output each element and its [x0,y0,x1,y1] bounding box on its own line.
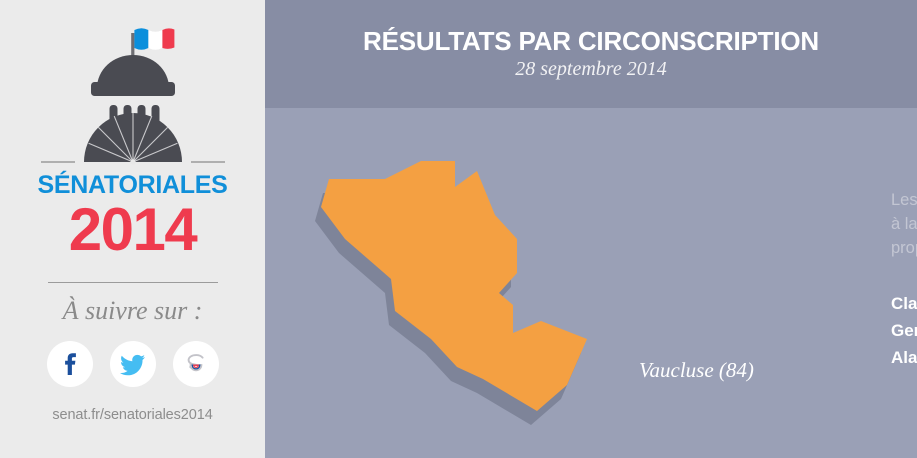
social-links [0,341,265,387]
french-flag-icon [134,28,174,50]
brand-block: SÉNATORIALES 2014 [0,173,265,261]
facebook-button[interactable] [47,341,93,387]
vaucluse-map[interactable] [285,143,645,433]
list-item: Claude HAUT [891,290,917,317]
senate-dome-logo [33,16,233,166]
map-container: Vaucluse (84) [265,108,917,458]
senators-list: Claude HAUT Geneviève JEAN Alain MILON [891,290,917,371]
brand-year: 2014 [0,198,265,261]
senat-icon [181,349,211,379]
map-label: Vaucluse (84) [639,358,754,383]
page-title: RÉSULTATS PAR CIRCONSCRIPTION [265,26,917,57]
sidebar: SÉNATORIALES 2014 À suivre sur : [0,0,265,458]
senat-button[interactable] [173,341,219,387]
twitter-button[interactable] [110,341,156,387]
hemicycle-icon [84,113,182,165]
content-area: RÉSULTATS PAR CIRCONSCRIPTION 28 septemb… [265,0,917,458]
list-item: Alain MILON [891,344,917,371]
sidebar-divider [48,282,218,283]
brand-senatoriales: SÉNATORIALES [0,173,265,198]
results-panel: Les 3 sénateurs (ré)élus à la représenta… [891,188,917,371]
senate-logo [0,16,265,166]
results-intro-line-3: proportionnelle sont : [891,239,917,257]
page-subtitle: 28 septembre 2014 [265,58,917,81]
infographic-root: SÉNATORIALES 2014 À suivre sur : [0,0,917,458]
twitter-icon [119,351,146,378]
follow-us-label: À suivre sur : [0,296,265,326]
site-url[interactable]: senat.fr/senatoriales2014 [0,407,265,423]
list-item: Geneviève JEAN [891,317,917,344]
facebook-icon [57,351,83,377]
results-intro: Les 3 sénateurs (ré)élus à la représenta… [891,188,917,260]
dome-shape [91,55,175,96]
results-intro-line-2: à la représentation [891,215,917,233]
results-intro-line-1: Les 3 sénateurs (ré)élus [891,191,917,209]
